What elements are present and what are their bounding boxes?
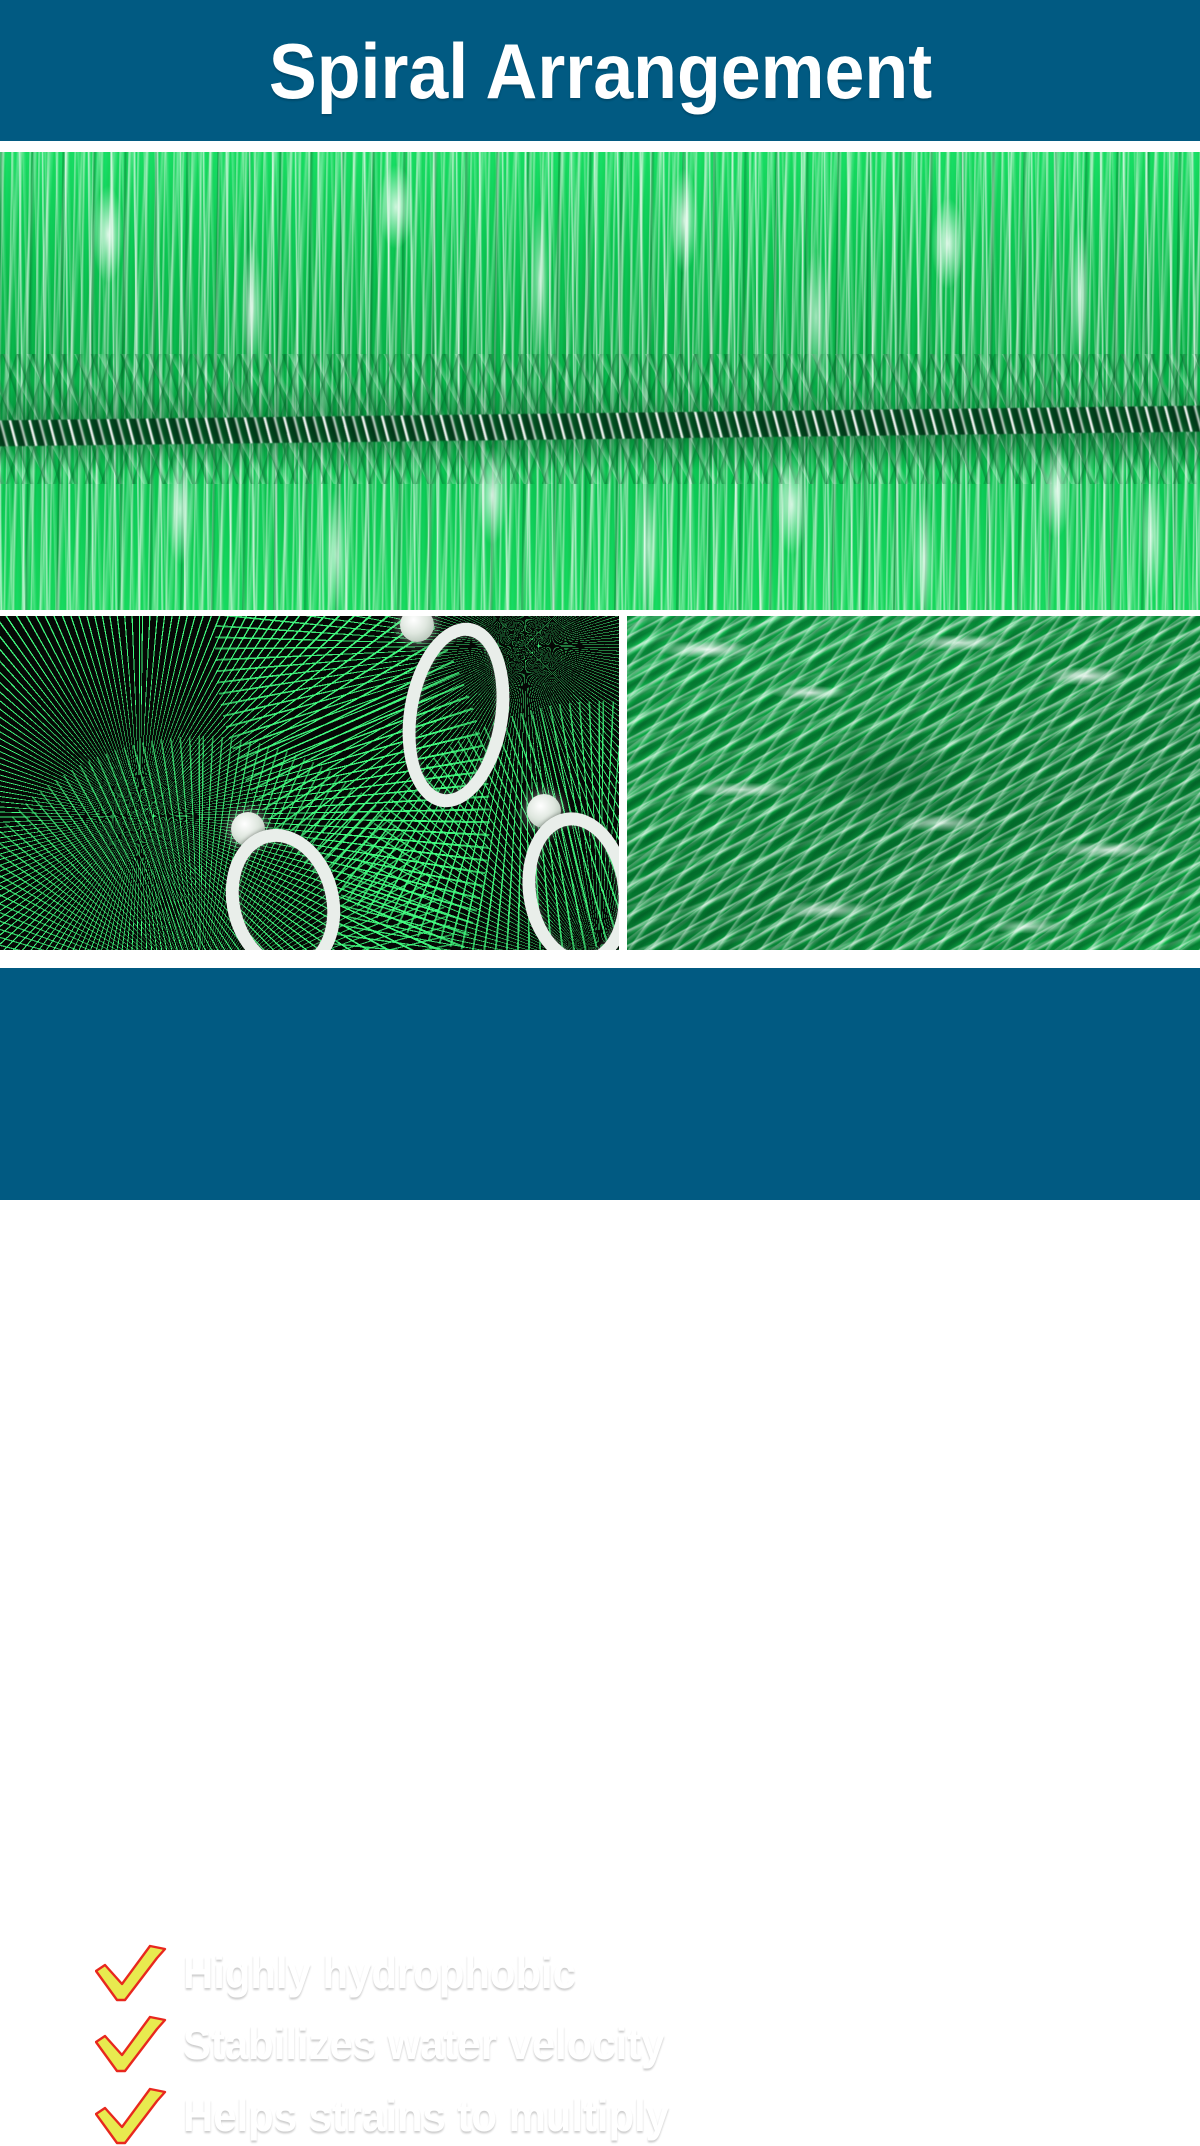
hero-product-photo [0, 152, 1200, 610]
benefit-item: Highly hydrophobic [95, 1943, 606, 2003]
header-banner: Spiral Arrangement [0, 0, 1200, 141]
brush-loops-photo [0, 616, 619, 950]
check-icon [95, 1943, 167, 2003]
check-icon [95, 2086, 167, 2146]
benefit-item: Helps strains to multiply [95, 2086, 706, 2146]
benefit-label: Stabilizes water velocity [183, 2014, 664, 2074]
infographic-page: Spiral Arrangement [0, 0, 1200, 1200]
bristle-macro-photo [627, 616, 1200, 950]
benefit-item: Stabilizes water velocity [95, 2014, 701, 2074]
benefits-panel: Highly hydrophobic Stabilizes water velo… [0, 968, 1200, 1200]
check-icon [95, 2014, 167, 2074]
macro-gloss-highlights [627, 616, 1200, 950]
benefit-label: Helps strains to multiply [183, 2086, 669, 2146]
page-title: Spiral Arrangement [268, 32, 931, 110]
benefit-label: Highly hydrophobic [183, 1943, 576, 2003]
